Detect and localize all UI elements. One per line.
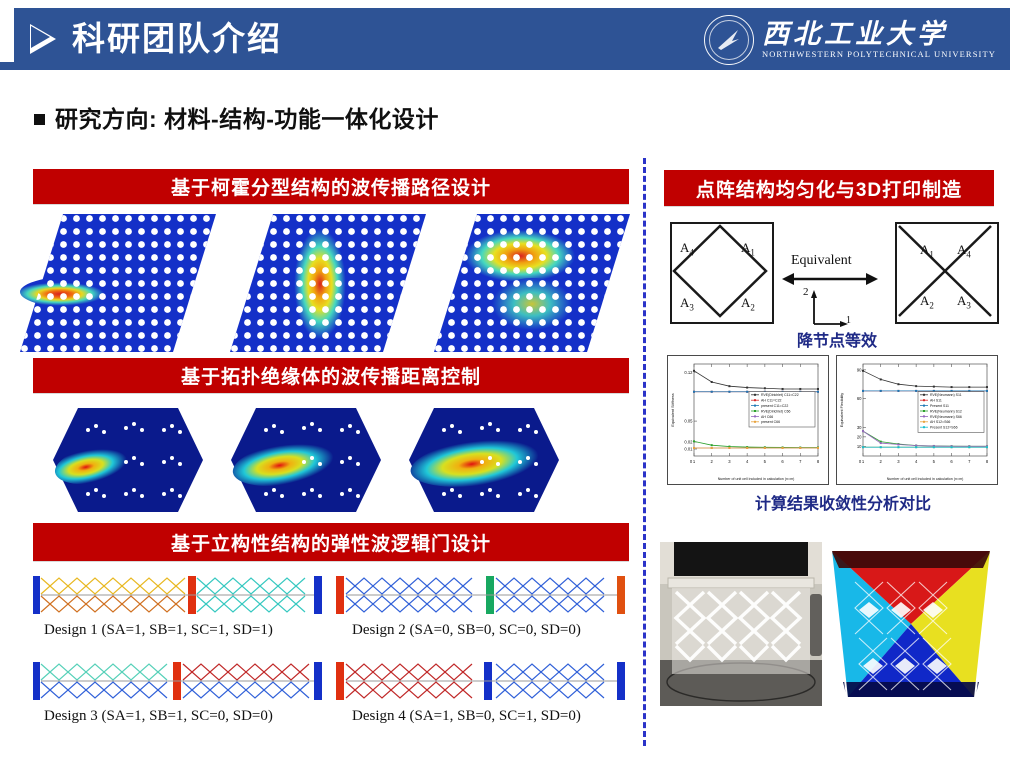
svg-text:2: 2	[880, 459, 883, 464]
design-caption-1: Design 1 (SA=1, SB=1, SC=1, SD=1)	[44, 622, 273, 639]
3d-printed-lattice-compression-photo	[660, 542, 822, 706]
svg-text:0.05: 0.05	[684, 419, 693, 424]
seal-swoosh-icon	[716, 28, 742, 52]
section-banner-topological-insulator: 基于拓扑绝缘体的波传播距离控制	[33, 358, 629, 393]
svg-text:0.12: 0.12	[684, 370, 693, 375]
header-left-margin	[0, 0, 14, 62]
svg-text:RVE(Neumann) S11: RVE(Neumann) S11	[930, 393, 962, 397]
svg-text:8: 8	[986, 459, 989, 464]
play-triangle-inner-icon	[31, 26, 50, 48]
svg-text:1: 1	[693, 459, 696, 464]
equivalent-label: Equivalent	[791, 253, 852, 269]
logo-english-name: NORTHWESTERN POLYTECHNICAL UNIVERSITY	[762, 49, 996, 60]
svg-text:8: 8	[817, 459, 820, 464]
section-banner-logic-gate: 基于立构性结构的弹性波逻辑门设计	[33, 523, 629, 561]
svg-text:30: 30	[857, 425, 862, 430]
logic-gate-beam-design-4	[336, 660, 626, 707]
unit-cell-cross-diagram	[895, 222, 999, 324]
svg-text:RVE(Dirichlet) C66: RVE(Dirichlet) C66	[761, 409, 791, 413]
wave-field-figure-1	[18, 212, 218, 354]
svg-text:2: 2	[711, 459, 714, 464]
slide-header: 科研团队介绍 西北工业大学 NORTHWESTERN POLYTECHNICAL…	[0, 8, 1010, 70]
university-seal-icon	[704, 15, 754, 65]
svg-text:AH S11: AH S11	[930, 399, 942, 403]
research-direction-heading: 研究方向: 材料-结构-功能一体化设计	[34, 100, 439, 134]
wave-field-figure-3	[432, 212, 632, 354]
svg-text:RVE(Neumann) S12: RVE(Neumann) S12	[930, 409, 962, 413]
svg-text:5: 5	[933, 459, 936, 464]
section-banner-fractal-wave-path: 基于柯霍分型结构的波传播路径设计	[33, 169, 629, 204]
svg-text:5: 5	[764, 459, 767, 464]
design-caption-2: Design 2 (SA=0, SB=0, SC=0, SD=0)	[352, 622, 581, 639]
svg-text:20: 20	[857, 434, 862, 439]
svg-text:3: 3	[728, 459, 731, 464]
svg-text:present C11=C22: present C11=C22	[761, 404, 788, 408]
convergence-analysis-caption: 计算结果收敛性分析对比	[755, 490, 931, 514]
logo-text: 西北工业大学 NORTHWESTERN POLYTECHNICAL UNIVER…	[762, 20, 996, 60]
svg-text:RVE(Dirichlet) C11=C22: RVE(Dirichlet) C11=C22	[761, 393, 799, 397]
topological-wave-figure-1	[48, 404, 208, 521]
node-reduction-caption: 降节点等效	[797, 327, 877, 351]
svg-text:6: 6	[781, 459, 784, 464]
cross-label-a3: A3	[957, 293, 971, 311]
svg-text:3: 3	[897, 459, 900, 464]
svg-text:7: 7	[968, 459, 971, 464]
svg-text:0.02: 0.02	[684, 440, 693, 445]
cross-label-a2: A2	[920, 293, 934, 311]
diamond-label-a2: A2	[741, 295, 755, 313]
svg-text:0.01: 0.01	[684, 447, 693, 452]
svg-text:Number of unit cell included i: Number of unit cell included in calculat…	[718, 477, 795, 481]
design-caption-3: Design 3 (SA=1, SB=1, SC=0, SD=0)	[44, 708, 273, 725]
svg-text:1: 1	[862, 459, 865, 464]
svg-text:90: 90	[857, 367, 862, 372]
topological-wave-figure-3	[404, 404, 564, 521]
svg-text:4: 4	[746, 459, 749, 464]
logo-chinese-name: 西北工业大学	[762, 20, 996, 49]
lattice-fea-simulation-photo	[825, 542, 997, 706]
svg-text:present C66: present C66	[761, 420, 780, 424]
svg-text:Number of unit cell included i: Number of unit cell included in calculat…	[887, 477, 964, 481]
logic-gate-beam-design-1	[33, 574, 323, 621]
svg-text:Equivalent Flexibility: Equivalent Flexibility	[840, 393, 844, 427]
svg-text:Present S11: Present S11	[930, 404, 949, 408]
wave-field-figure-2	[228, 212, 428, 354]
svg-text:AH C11=C22: AH C11=C22	[761, 399, 782, 403]
topological-wave-figure-2	[226, 404, 386, 521]
page-title: 科研团队介绍	[72, 18, 282, 60]
convergence-chart-stiffness: 1234567800.010.020.050.12RVE(Dirichlet) …	[667, 355, 829, 485]
diamond-label-a4: A4	[680, 240, 694, 258]
logic-gate-beam-design-2	[336, 574, 626, 621]
convergence-chart-flexibility: 1234567801020306090RVE(Neumann) S11AH S1…	[836, 355, 998, 485]
svg-text:7: 7	[799, 459, 802, 464]
cross-label-a4: A4	[957, 242, 971, 260]
svg-text:10: 10	[857, 444, 862, 449]
logic-gate-beam-design-3	[33, 660, 323, 707]
design-caption-4: Design 4 (SA=1, SB=0, SC=1, SD=0)	[352, 708, 581, 725]
svg-text:AH C66: AH C66	[761, 415, 773, 419]
diamond-label-a3: A3	[680, 295, 694, 313]
research-direction-text: 研究方向: 材料-结构-功能一体化设计	[55, 106, 439, 132]
svg-text:4: 4	[915, 459, 918, 464]
section-banner-lattice-homogenization: 点阵结构均匀化与3D打印制造	[664, 170, 994, 206]
diamond-label-a1: A1	[741, 240, 755, 258]
axis-label-1: 1	[846, 315, 851, 326]
svg-text:Equivalent Stiffness: Equivalent Stiffness	[671, 393, 675, 426]
square-bullet-icon	[34, 114, 45, 125]
column-divider	[643, 158, 646, 746]
svg-text:6: 6	[950, 459, 953, 464]
cross-label-a1: A1	[920, 242, 934, 260]
university-logo: 西北工业大学 NORTHWESTERN POLYTECHNICAL UNIVER…	[704, 14, 996, 66]
svg-text:AH S12=S66: AH S12=S66	[930, 420, 950, 424]
slide: 科研团队介绍 西北工业大学 NORTHWESTERN POLYTECHNICAL…	[0, 0, 1010, 762]
svg-text:60: 60	[857, 396, 862, 401]
svg-text:RVE(Neumann) S66: RVE(Neumann) S66	[930, 415, 962, 419]
svg-text:Present S12=S66: Present S12=S66	[930, 426, 958, 430]
axis-label-2: 2	[803, 286, 809, 298]
